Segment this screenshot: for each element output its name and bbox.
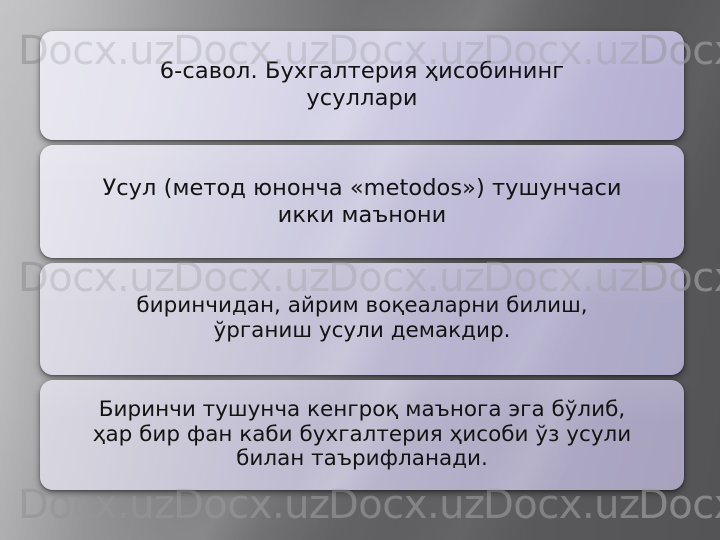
first-meaning-card-line-2: ўрганиш усули демакдир.	[54, 319, 670, 344]
definition-card-line-1: Усул (метод юнонча «metodos») тушунчаси	[54, 175, 670, 201]
explanation-card-text: Биринчи тушунча кенгроқ маънога эга бўли…	[40, 398, 684, 473]
title-card-line-1: 6-савол. Бухгалтерия ҳисобининг	[54, 58, 670, 84]
first-meaning-card-text: биринчидан, айрим воқеаларни билиш, ўрга…	[40, 294, 684, 344]
title-card-line-2: усуллари	[54, 85, 670, 111]
first-meaning-card[interactable]: биринчидан, айрим воқеаларни билиш, ўрга…	[40, 263, 684, 375]
definition-card-text: Усул (метод юнонча «metodos») тушунчаси …	[40, 175, 684, 227]
first-meaning-card-line-1: биринчидан, айрим воқеаларни билиш,	[54, 294, 670, 319]
explanation-card-line-2: ҳар бир фан каби бухгалтерия ҳисоби ўз у…	[54, 423, 670, 448]
explanation-card-line-1: Биринчи тушунча кенгроқ маънога эга бўли…	[54, 398, 670, 423]
card-stack: 6-савол. Бухгалтерия ҳисобининг усуллари…	[40, 31, 684, 490]
title-card[interactable]: 6-савол. Бухгалтерия ҳисобининг усуллари	[40, 31, 684, 140]
definition-card-line-2: икки маънони	[54, 202, 670, 228]
explanation-card-line-3: билан таърифланади.	[54, 447, 670, 472]
title-card-text: 6-савол. Бухгалтерия ҳисобининг усуллари	[40, 58, 684, 112]
definition-card[interactable]: Усул (метод юнонча «metodos») тушунчаси …	[40, 145, 684, 258]
presentation-slide: Docx.uz Docx.uz Docx.uz Docx.uz Docx.uz …	[0, 0, 720, 540]
explanation-card[interactable]: Биринчи тушунча кенгроқ маънога эга бўли…	[40, 380, 684, 490]
